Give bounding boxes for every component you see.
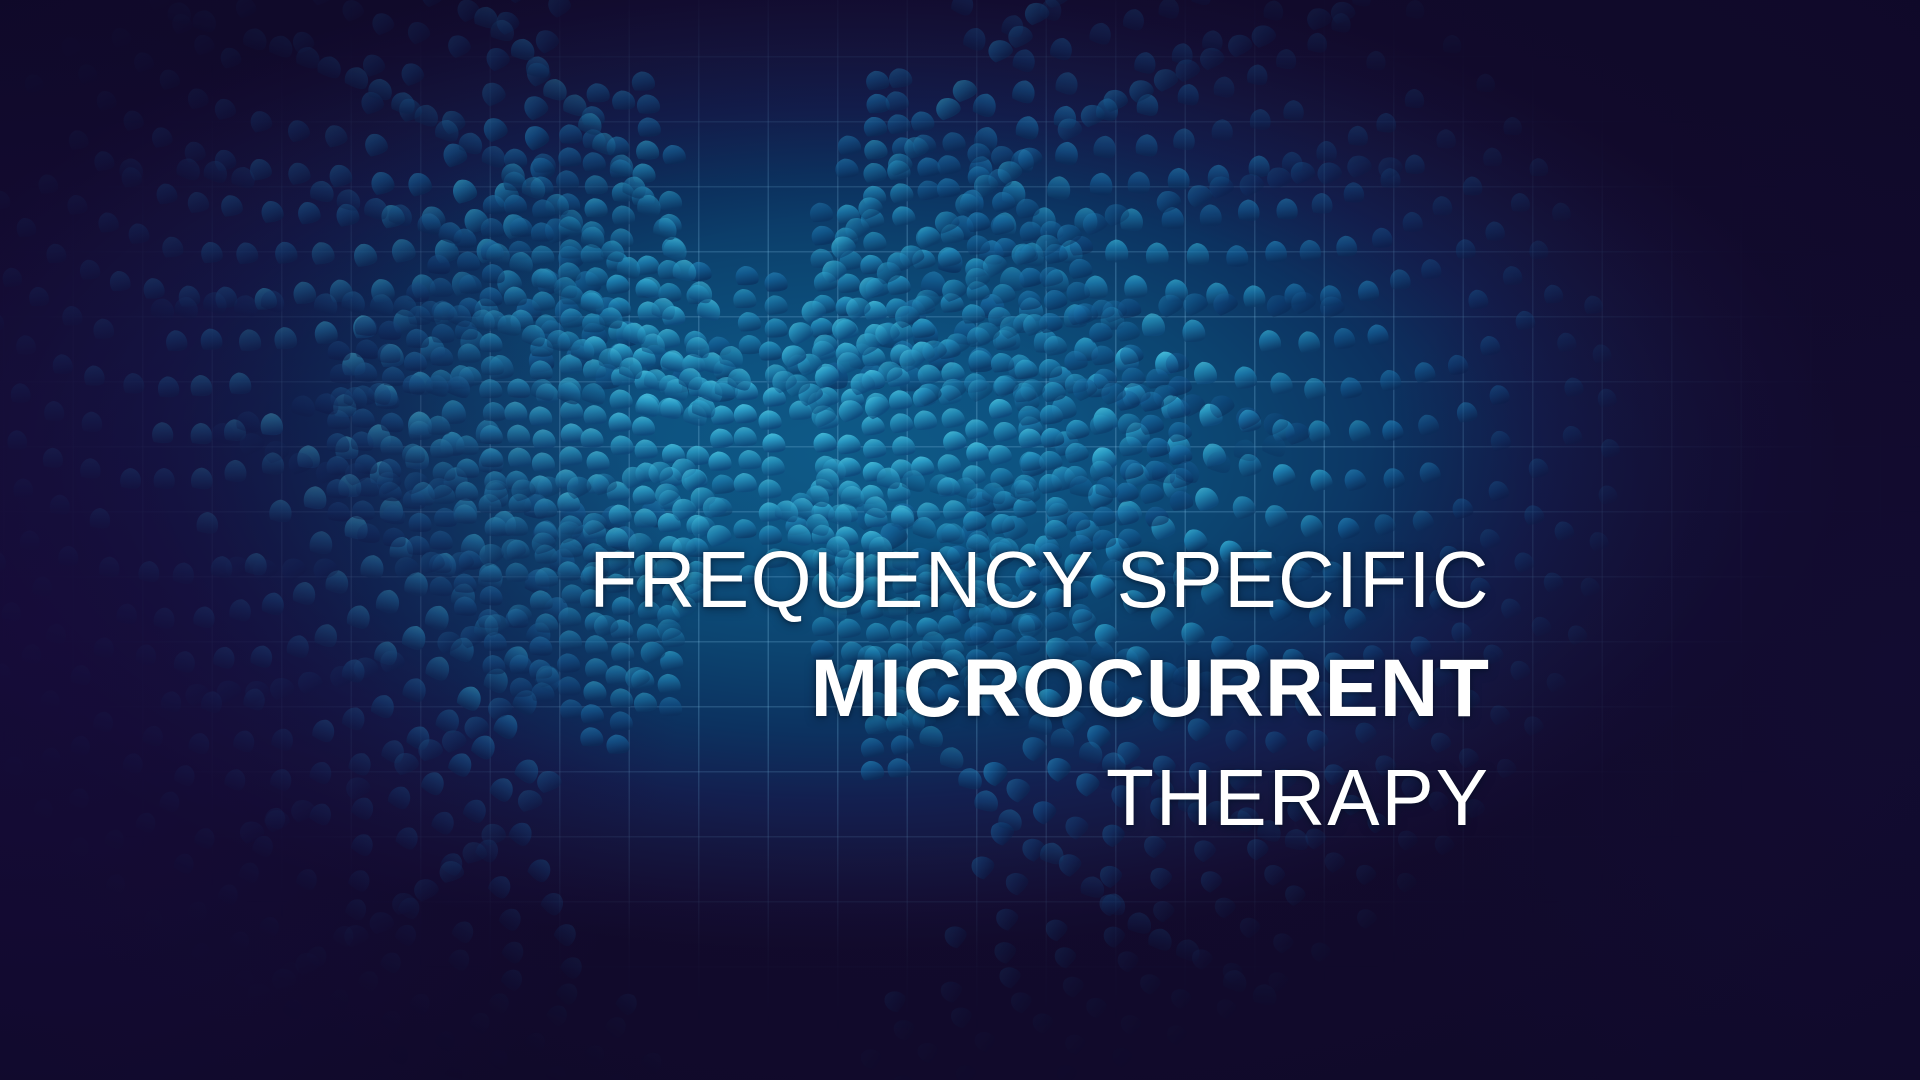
headline-line-1: FREQUENCY SPECIFIC [451,540,1490,620]
headline-block: FREQUENCY SPECIFIC MICROCURRENT THERAPY [430,540,1490,838]
headline-line-3: THERAPY [451,758,1490,838]
frequency-therapy-banner: FREQUENCY SPECIFIC MICROCURRENT THERAPY [0,0,1920,1080]
headline-line-2: MICROCURRENT [441,648,1490,730]
